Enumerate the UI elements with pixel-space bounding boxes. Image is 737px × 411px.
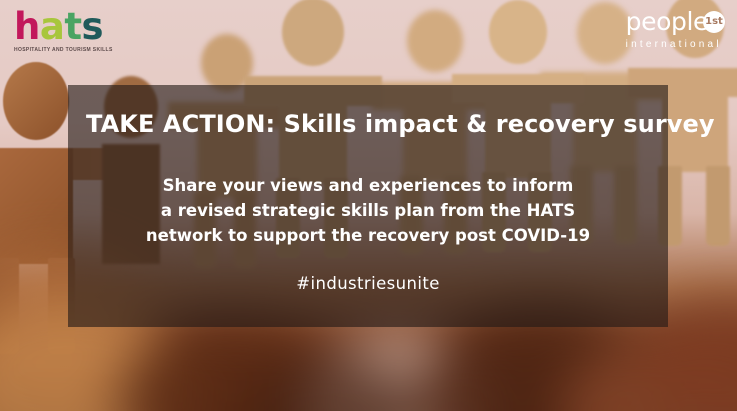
hats-wordmark: hats <box>14 8 113 45</box>
page-title: TAKE ACTION: Skills impact & recovery su… <box>86 111 650 139</box>
hats-logo[interactable]: hats HOSPITALITY AND TOURISM SKILLS <box>14 8 113 53</box>
hats-letter-a: a <box>40 5 64 48</box>
hats-tagline: HOSPITALITY AND TOURISM SKILLS <box>14 47 113 53</box>
body-copy-line: a revised strategic skills plan from the… <box>86 198 650 223</box>
hats-letter-t: t <box>64 5 81 48</box>
people-1st-badge-icon: 1st <box>703 11 725 33</box>
hats-letter-h: h <box>14 5 40 48</box>
body-copy-line: Share your views and experiences to info… <box>86 173 650 198</box>
people-1st-wordmark-row: people 1st <box>626 9 725 34</box>
body-copy-line: network to support the recovery post COV… <box>86 223 650 248</box>
hats-letter-s: s <box>82 5 104 48</box>
body-copy: Share your views and experiences to info… <box>86 139 650 248</box>
people-1st-international-logo[interactable]: people 1st international <box>626 9 725 50</box>
people-1st-word: people <box>626 9 708 34</box>
message-panel: TAKE ACTION: Skills impact & recovery su… <box>68 85 668 327</box>
people-1st-subtitle: international <box>626 39 725 50</box>
campaign-banner: hats HOSPITALITY AND TOURISM SKILLS peop… <box>0 0 737 411</box>
message-panel-content: TAKE ACTION: Skills impact & recovery su… <box>68 85 668 327</box>
campaign-hashtag: #industriesunite <box>86 248 650 293</box>
